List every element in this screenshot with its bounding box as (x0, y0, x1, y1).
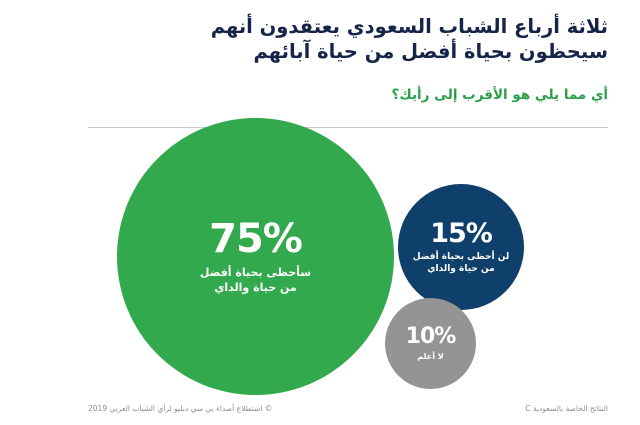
bubble-slice-green: 75% سأحظى بحياة أفضل من حياة والداي (117, 118, 394, 395)
bubble-green-label: سأحظى بحياة أفضل من حياة والداي (200, 265, 311, 295)
infographic-page: ثلاثة أرباع الشباب السعودي يعتقدون أنهم … (0, 0, 640, 425)
bubble-gray-label-line-1: لا أعلم (417, 351, 444, 362)
footer-results-label: النتائج الخاصة بالسعودية C (525, 404, 608, 413)
bubble-navy-label-line-1: لن أحظى بحياة أفضل (413, 251, 509, 263)
bubble-navy-percent: 15% (430, 220, 492, 247)
page-title-line-2: سيحظون بحياة أفضل من حياة آبائهم (138, 39, 608, 64)
bubble-green-label-line-2: من حياة والداي (200, 280, 311, 295)
bubble-green-percent: 75% (209, 219, 302, 259)
bubble-navy-label-line-2: من حياة والداي (413, 263, 509, 275)
page-title-line-1: ثلاثة أرباع الشباب السعودي يعتقدون أنهم (138, 14, 608, 39)
bubble-slice-navy: 15% لن أحظى بحياة أفضل من حياة والداي (398, 184, 524, 310)
bubble-slice-gray: 10% لا أعلم (385, 298, 476, 389)
bubble-gray-percent: 10% (406, 326, 456, 348)
chart-question-subtitle: أي مما يلي هو الأقرب إلى رأيك؟ (138, 87, 608, 103)
bubble-gray-label: لا أعلم (417, 351, 444, 362)
bubble-navy-label: لن أحظى بحياة أفضل من حياة والداي (413, 251, 509, 275)
page-header: ثلاثة أرباع الشباب السعودي يعتقدون أنهم … (138, 14, 608, 64)
bubble-green-label-line-1: سأحظى بحياة أفضل (200, 265, 311, 280)
header-divider (88, 127, 608, 128)
footer-source-credit: © استطلاع أصداء بي سي دبليو لرأي الشباب … (88, 404, 272, 413)
